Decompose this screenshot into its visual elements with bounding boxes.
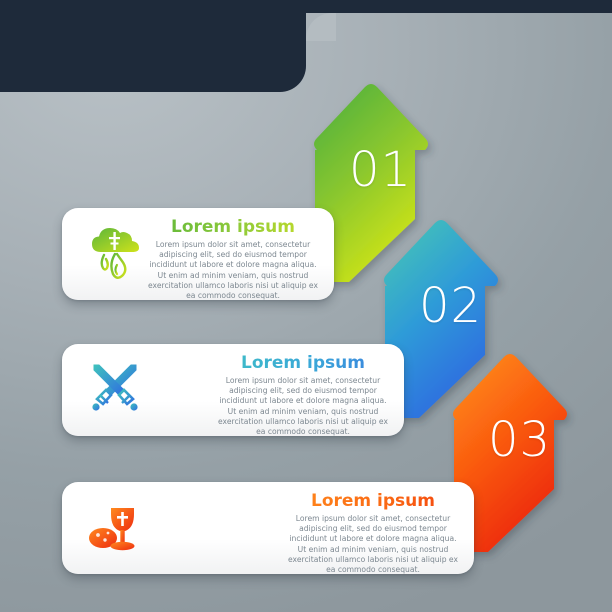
step-card-01[interactable]: Lorem ipsum Lorem ipsum dolor sit amet, … bbox=[62, 208, 334, 300]
step-number-02: 02 bbox=[419, 278, 482, 334]
step-title-03: Lorem ipsum bbox=[284, 490, 462, 512]
step-card-body-03: Lorem ipsum Lorem ipsum dolor sit amet, … bbox=[284, 490, 462, 575]
step-card-03[interactable]: Lorem ipsum Lorem ipsum dolor sit amet, … bbox=[62, 482, 474, 574]
step-text-02: Lorem ipsum dolor sit amet, consectetur … bbox=[214, 376, 392, 437]
header-panel bbox=[0, 0, 306, 92]
step-card-02[interactable]: Lorem ipsum Lorem ipsum dolor sit amet, … bbox=[62, 344, 404, 436]
step-card-body-01: Lorem ipsum Lorem ipsum dolor sit amet, … bbox=[144, 216, 322, 301]
header-corner-notch bbox=[306, 13, 336, 41]
step-text-01: Lorem ipsum dolor sit amet, consectetur … bbox=[144, 240, 322, 301]
step-title-01: Lorem ipsum bbox=[144, 216, 322, 238]
step-card-body-02: Lorem ipsum Lorem ipsum dolor sit amet, … bbox=[214, 352, 392, 437]
chalice-and-bread-icon bbox=[84, 497, 146, 559]
incense-smoke-cross-icon bbox=[84, 223, 146, 285]
infographic-canvas: Infographic DESIGN 01 bbox=[0, 0, 612, 612]
step-text-03: Lorem ipsum dolor sit amet, consectetur … bbox=[284, 514, 462, 575]
step-number-03: 03 bbox=[488, 412, 551, 468]
step-number-01: 01 bbox=[349, 142, 412, 198]
crossed-swords-icon bbox=[84, 359, 146, 421]
step-title-02: Lorem ipsum bbox=[214, 352, 392, 374]
